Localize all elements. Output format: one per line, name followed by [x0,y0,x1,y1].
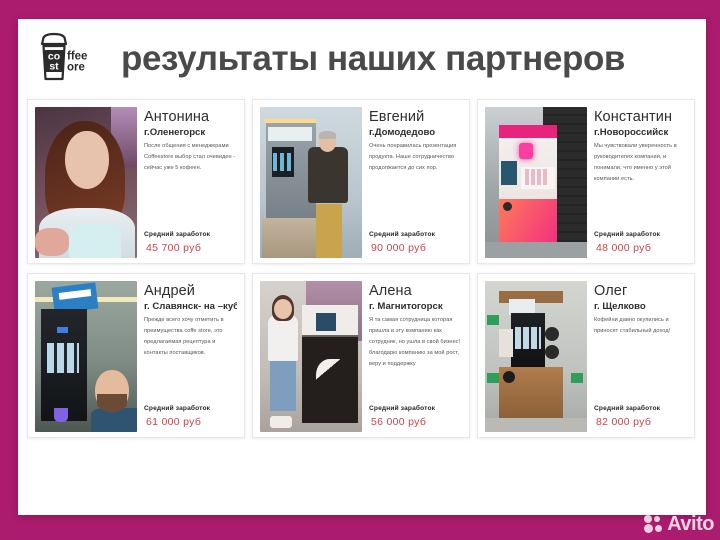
avito-watermark: Avito [644,514,714,534]
earnings-value: 90 000 руб [369,242,462,254]
partners-grid: Антонина г.Оленегорск После общения с ме… [27,99,697,438]
partner-quote: Кофейни давно окупились и приносят стаби… [594,315,687,403]
earnings-value: 56 000 руб [369,416,462,428]
partner-city: г.Оленегорск [144,127,237,139]
partner-name: Антонина [144,109,237,126]
partner-card[interactable]: Алена г. Магнитогорск Я та самая сотрудн… [252,273,470,438]
earnings-value: 61 000 руб [144,416,237,428]
partner-name: Алена [369,283,462,300]
partner-card[interactable]: Евгений г.Домодедово Очень понравилась п… [252,99,470,264]
poster-root: co st ffee ore результаты наших партнеро… [0,0,720,540]
partner-photo [260,281,362,432]
svg-text:st: st [49,61,59,73]
partner-info: Евгений г.Домодедово Очень понравилась п… [362,107,462,256]
earnings-label: Средний заработок [594,231,687,238]
earnings-label: Средний заработок [144,231,237,238]
earnings-label: Средний заработок [369,405,462,412]
partner-quote: После общения с менеджерами Coffeestore … [144,141,237,229]
partner-card[interactable]: Константин г.Новороссийск Мы чувствовали… [477,99,695,264]
earnings-label: Средний заработок [594,405,687,412]
partner-quote: Очень понравилась презентация продукта. … [369,141,462,229]
partner-name: Евгений [369,109,462,126]
avito-dots-icon [644,515,664,533]
earnings-label: Средний заработок [369,231,462,238]
partner-name: Андрей [144,283,237,300]
earnings-value: 48 000 руб [594,242,687,254]
partner-info: Антонина г.Оленегорск После общения с ме… [137,107,237,256]
page-title: результаты наших партнеров [121,41,625,76]
partner-info: Константин г.Новороссийск Мы чувствовали… [587,107,687,256]
partner-photo [260,107,362,258]
svg-text:ffee: ffee [67,50,87,62]
earnings-value: 45 700 руб [144,242,237,254]
partner-photo [485,281,587,432]
partner-city: г.Новороссийск [594,127,687,139]
poster-header: co st ffee ore результаты наших партнеро… [18,19,706,97]
poster-sheet: co st ffee ore результаты наших партнеро… [18,19,706,515]
partner-photo [35,107,137,258]
partner-card[interactable]: Антонина г.Оленегорск После общения с ме… [27,99,245,264]
partner-city: г.Домодедово [369,127,462,139]
partner-card[interactable]: Андрей г. Славянск- на –кубани Прежде вс… [27,273,245,438]
partner-name: Олег [594,283,687,300]
partner-name: Константин [594,109,687,126]
partner-city: г. Славянск- на –кубани [144,301,237,313]
partner-info: Олег г. Щелково Кофейни давно окупились … [587,281,687,430]
partner-city: г. Магнитогорск [369,301,462,313]
partner-quote: Мы чувствовали уверенность в руководител… [594,141,687,229]
earnings-value: 82 000 руб [594,416,687,428]
partner-photo [485,107,587,258]
svg-text:ore: ore [67,62,85,74]
partner-photo [35,281,137,432]
earnings-label: Средний заработок [144,405,237,412]
partner-info: Андрей г. Славянск- на –кубани Прежде вс… [137,281,237,430]
partner-city: г. Щелково [594,301,687,313]
avito-wordmark: Avito [667,514,714,534]
partner-card[interactable]: Олег г. Щелково Кофейни давно окупились … [477,273,695,438]
partner-info: Алена г. Магнитогорск Я та самая сотрудн… [362,281,462,430]
coffee-store-logo: co st ffee ore [35,29,113,87]
partner-quote: Прежде всего хочу отметить в преимуществ… [144,315,237,403]
partner-quote: Я та самая сотрудница которая пришла в э… [369,315,462,403]
